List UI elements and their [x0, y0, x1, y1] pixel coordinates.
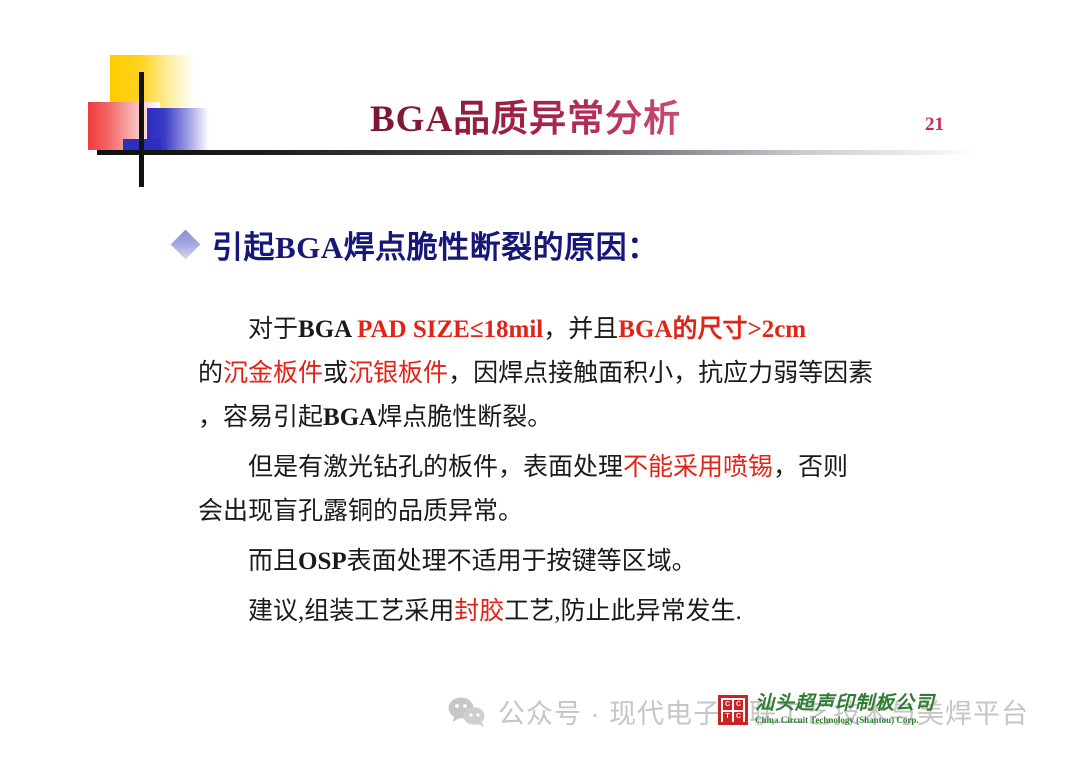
- p1l1-seg1: 对于: [248, 316, 298, 343]
- paragraph-2-line-2: 会出现盲孔露铜的品质异常。: [198, 494, 938, 530]
- p1l3-seg1: ，容易引起: [198, 404, 323, 431]
- p4-seg3: 工艺,防止此异常发生.: [504, 598, 742, 625]
- p3-seg1: 而且: [248, 548, 298, 575]
- deco-red-block: [88, 102, 160, 150]
- company-name-en: China Circuit Technology (Shantou) Corp.: [755, 716, 935, 725]
- p4-seg2: 封胶: [454, 598, 504, 625]
- diamond-bullet-icon: [171, 230, 201, 260]
- p4-seg1: 建议,组装工艺采用: [248, 598, 454, 625]
- paragraph-1-line-1: 对于BGA PAD SIZE≤18mil，并且BGA的尺寸>2cm: [198, 312, 938, 348]
- body-copy: 对于BGA PAD SIZE≤18mil，并且BGA的尺寸>2cm 的沉金板件或…: [198, 312, 938, 638]
- p1l1-seg4: ，并且: [543, 316, 618, 343]
- p1l2-seg5: ，因焊点接触面积小，抗应力弱等因素: [448, 360, 873, 387]
- p1l1-seg3: PAD SIZE≤18mil: [357, 316, 543, 343]
- p2l2-seg1: 会出现盲孔露铜的品质异常。: [198, 498, 523, 525]
- cctc-mark-icon: C C T C: [718, 695, 748, 725]
- wechat-icon: [448, 696, 488, 728]
- section-heading-label: 引起BGA焊点脆性断裂的原因：: [212, 222, 659, 267]
- deco-blue-block: [147, 108, 209, 154]
- cctc-mark-cell: T: [723, 712, 732, 722]
- p2l1-seg1: 但是有激光钻孔的板件，表面处理: [248, 454, 623, 481]
- p1l1-seg2: BGA: [298, 316, 357, 343]
- p1l3-seg3: 焊点脆性断裂。: [377, 404, 552, 431]
- cctc-mark-cell: C: [723, 700, 732, 710]
- company-names: 汕头超声印制板公司 China Circuit Technology (Shan…: [755, 694, 935, 725]
- p1l1-seg5: BGA的尺寸>2cm: [618, 316, 806, 343]
- p3-seg2: OSP: [298, 548, 347, 575]
- paragraph-2-line-1: 但是有激光钻孔的板件，表面处理不能采用喷锡，否则: [198, 450, 938, 486]
- slide-title: BGA品质异常分析: [370, 88, 681, 142]
- deco-vertical-rule: [139, 72, 144, 187]
- p1l2-seg2: 沉金板件: [223, 360, 323, 387]
- paragraph-3: 而且OSP表面处理不适用于按键等区域。: [198, 544, 938, 580]
- p1l2-seg1: 的: [198, 360, 223, 387]
- p2l1-seg2: 不能采用喷锡: [623, 454, 773, 481]
- page-number: 21: [925, 114, 944, 136]
- cctc-mark-cell: C: [734, 712, 743, 722]
- p1l2-seg4: 沉银板件: [348, 360, 448, 387]
- p2l1-seg3: ，否则: [773, 454, 848, 481]
- company-logo: C C T C 汕头超声印制板公司 China Circuit Technolo…: [718, 694, 935, 725]
- paragraph-1-line-3: ，容易引起BGA焊点脆性断裂。: [198, 400, 938, 436]
- company-name-cn: 汕头超声印制板公司: [755, 694, 935, 713]
- deco-yellow-block: [110, 55, 195, 115]
- paragraph-4: 建议,组装工艺采用封胶工艺,防止此异常发生.: [198, 594, 938, 630]
- deco-blue-small-block: [123, 139, 161, 153]
- paragraph-1-line-2: 的沉金板件或沉银板件，因焊点接触面积小，抗应力弱等因素: [198, 356, 938, 392]
- deco-horizontal-rule: [97, 150, 977, 155]
- section-heading: 引起BGA焊点脆性断裂的原因：: [175, 222, 659, 267]
- p1l3-seg2: BGA: [323, 404, 377, 431]
- p1l2-seg3: 或: [323, 360, 348, 387]
- p3-seg3: 表面处理不适用于按键等区域。: [347, 548, 697, 575]
- cctc-mark-cell: C: [734, 700, 743, 710]
